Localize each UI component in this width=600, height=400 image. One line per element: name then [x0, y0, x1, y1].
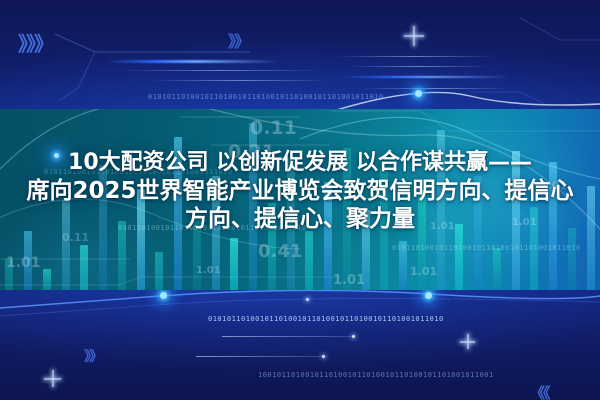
headline-block: 10大配资公司 以创新促发展 以合作谋共赢—— 席向2025世界智能产业博览会致…: [0, 150, 600, 233]
headline-line-1: 10大配资公司 以创新促发展 以合作谋共赢——: [0, 150, 600, 177]
glow-node: [425, 292, 432, 299]
glow-dot: [322, 355, 325, 358]
bottom-network-lines: [0, 290, 600, 400]
connector-line: [196, 356, 323, 357]
binary-row: 0101101001011010010110100101101001011010: [392, 245, 581, 252]
sparkle-icon: [460, 334, 475, 349]
chevron-right-icon: 》》: [84, 346, 101, 366]
top-decorative-band: 》》》 》》 010101101001011010010110100101101…: [0, 0, 600, 109]
chevron-left-icon: 《《: [530, 382, 549, 400]
binary-row: 0101011010010110100101101001011010010110…: [208, 316, 444, 323]
sparkle-icon: [44, 370, 61, 387]
connector-line: [222, 336, 354, 337]
glow-dot: [352, 335, 355, 338]
bottom-decorative-band: 0101011010010110100101101001011010010110…: [0, 290, 600, 400]
glow-node: [160, 292, 167, 299]
banner-image: 》》》 》》 010101101001011010010110100101101…: [0, 0, 600, 400]
glow-dot: [306, 298, 309, 301]
headline-line-3: 方向、提信心、聚力量: [0, 205, 600, 233]
headline-line-2: 席向2025世界智能产业博览会致贺信明方向、提信心: [0, 177, 600, 205]
glow-node: [415, 90, 422, 97]
binary-row: 1001011010010110100101101001011010010110…: [258, 372, 494, 379]
binary-row: 0101011010010110100101101001011010010110…: [148, 94, 384, 101]
